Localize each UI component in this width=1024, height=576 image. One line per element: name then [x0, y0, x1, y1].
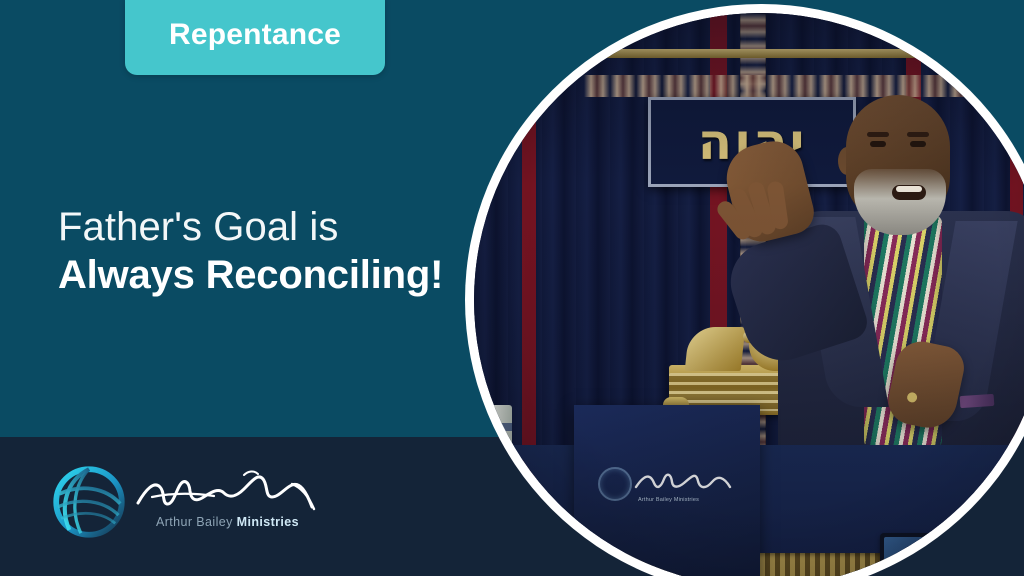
- page-title: Father's Goal is Always Reconciling!: [58, 206, 478, 297]
- title-line-1: Father's Goal is: [58, 206, 478, 249]
- brand-name: Arthur Bailey Ministries: [156, 515, 299, 529]
- title-line-2: Always Reconciling!: [58, 253, 478, 297]
- arthur-bailey-signature-icon: [132, 463, 317, 519]
- sanctuary-scene: יהוה: [474, 13, 1024, 576]
- brand-name-person: Arthur Bailey: [156, 515, 237, 529]
- brand-logo[interactable]: Arthur Bailey Ministries: [48, 456, 318, 548]
- brand-name-ministries: Ministries: [237, 515, 299, 529]
- category-badge[interactable]: Repentance: [125, 0, 385, 75]
- slide-canvas: יהוה: [0, 0, 1024, 576]
- globe-icon: [48, 461, 130, 543]
- speaker-photo: יהוה: [474, 13, 1024, 576]
- category-badge-label: Repentance: [169, 20, 341, 54]
- scene-shading: [474, 13, 1024, 576]
- speaker-photo-ring: יהוה: [465, 4, 1024, 576]
- signature-block: Arthur Bailey Ministries: [132, 463, 317, 541]
